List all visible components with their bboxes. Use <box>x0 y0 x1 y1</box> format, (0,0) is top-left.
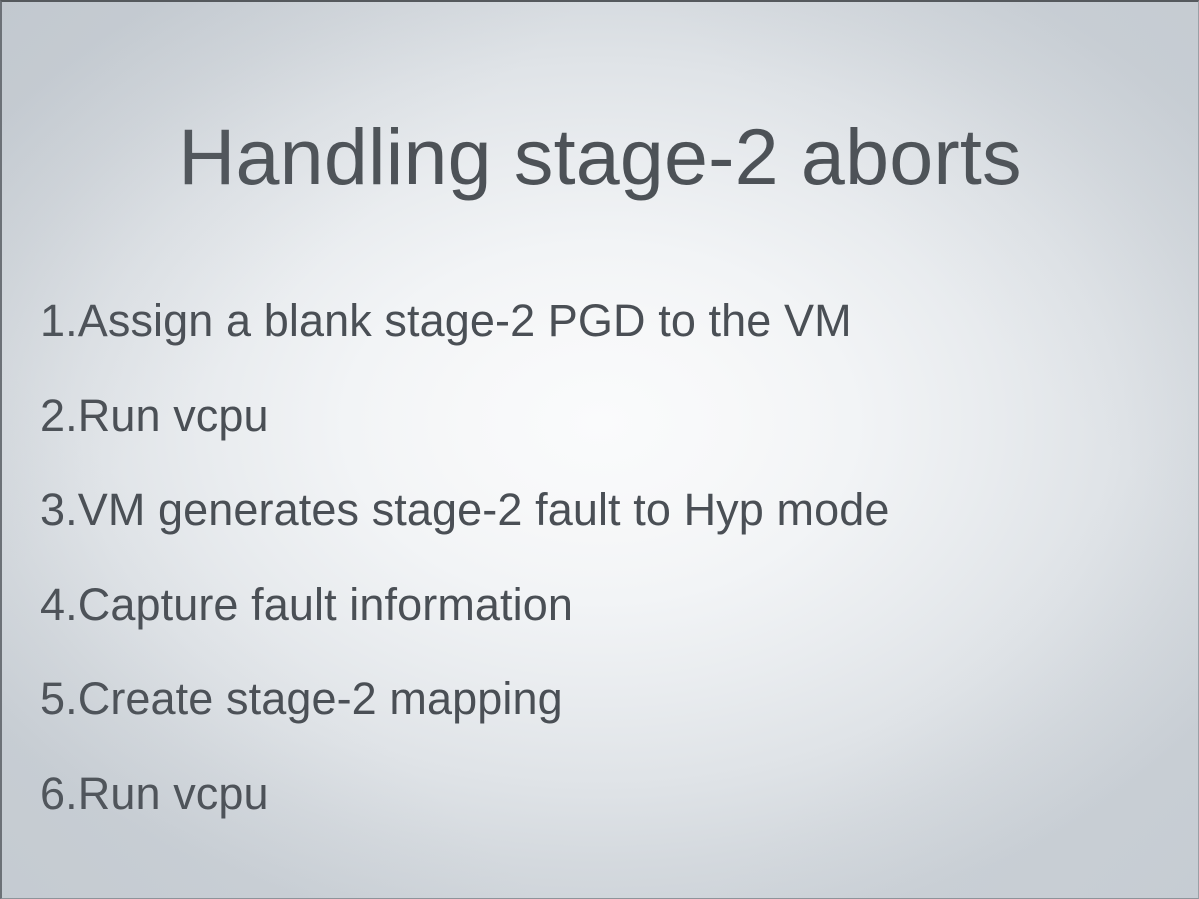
list-item: 6.Run vcpu <box>40 771 1158 866</box>
slide-title: Handling stage-2 aborts <box>2 113 1198 201</box>
list-item-number: 5. <box>40 673 78 724</box>
list-item: 2.Run vcpu <box>40 393 1158 488</box>
list-item-label: Create stage-2 mapping <box>78 673 563 724</box>
presentation-slide: Handling stage-2 aborts 1.Assign a blank… <box>0 0 1199 899</box>
list-item-label: Run vcpu <box>78 390 269 441</box>
list-item: 1.Assign a blank stage-2 PGD to the VM <box>40 298 1158 393</box>
list-item-label: Capture fault information <box>78 579 573 630</box>
list-item-number: 3. <box>40 484 78 535</box>
list-item: 4.Capture fault information <box>40 582 1158 677</box>
list-item-number: 6. <box>40 768 78 819</box>
list-item: 5.Create stage-2 mapping <box>40 676 1158 771</box>
list-item-label: Run vcpu <box>78 768 269 819</box>
list-item-label: Assign a blank stage-2 PGD to the VM <box>78 295 852 346</box>
numbered-step-list: 1.Assign a blank stage-2 PGD to the VM 2… <box>40 298 1158 865</box>
list-item-label: VM generates stage-2 fault to Hyp mode <box>78 484 890 535</box>
list-item-number: 4. <box>40 579 78 630</box>
list-item-number: 2. <box>40 390 78 441</box>
list-item-number: 1. <box>40 295 78 346</box>
list-item: 3.VM generates stage-2 fault to Hyp mode <box>40 487 1158 582</box>
